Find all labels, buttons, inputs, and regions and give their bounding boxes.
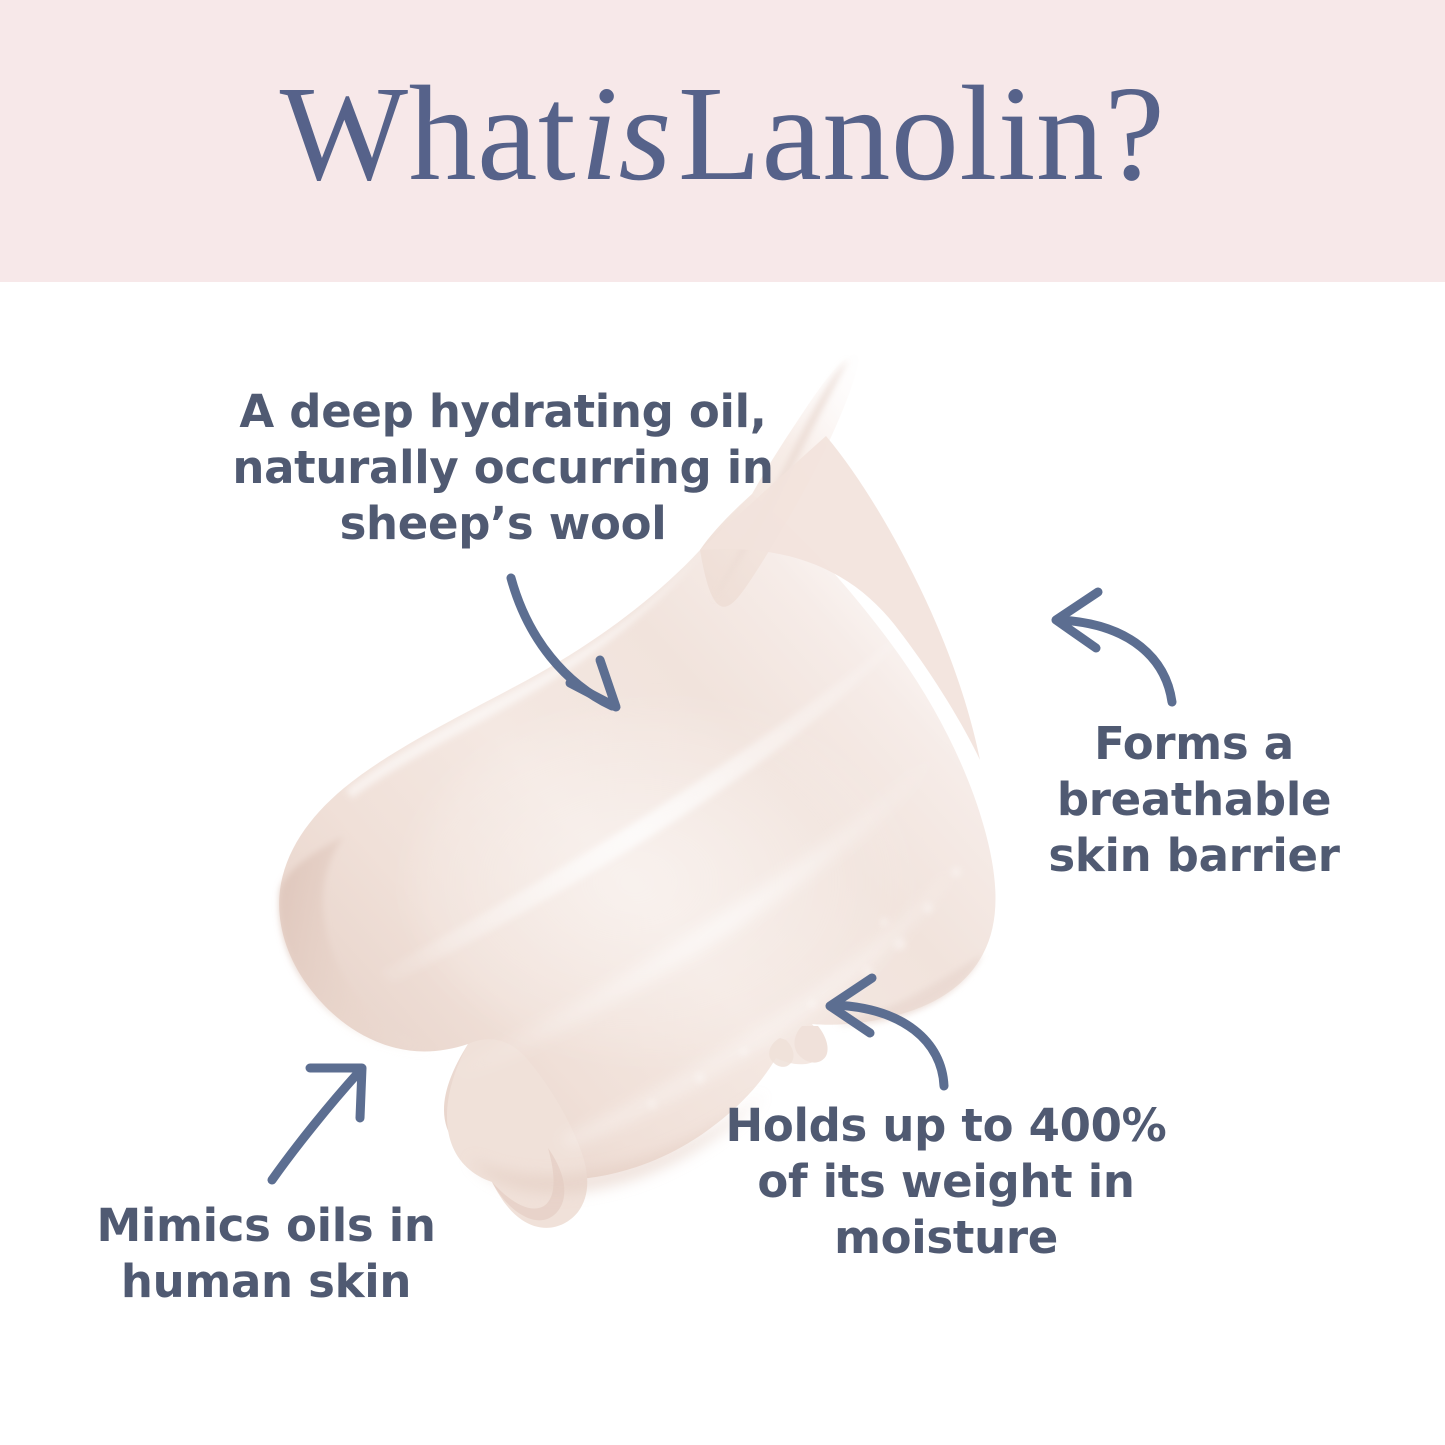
annotation-line: sheep’s wool: [178, 496, 828, 552]
annotation-line: Mimics oils in: [56, 1198, 476, 1254]
page-title-word-is: is: [576, 66, 678, 202]
annotation-line: of its weight in: [676, 1154, 1216, 1210]
annotation-line: naturally occurring in: [178, 440, 828, 496]
page-title-word-what: What: [280, 66, 577, 202]
annotation-breathable-barrier: Forms a breathable skin barrier: [1014, 716, 1374, 883]
annotation-line: skin barrier: [1014, 828, 1374, 884]
annotation-deep-hydrating-oil: A deep hydrating oil, naturally occurrin…: [178, 384, 828, 551]
cream-inner-glow: [410, 707, 910, 1057]
infographic-page: What is Lanolin?: [0, 0, 1445, 1445]
page-title-word-lanolin: Lanolin?: [678, 66, 1165, 202]
annotation-line: breathable: [1014, 772, 1374, 828]
page-title: What is Lanolin?: [0, 0, 1445, 282]
annotation-mimics-human-skin: Mimics oils in human skin: [56, 1198, 476, 1310]
annotation-line: Holds up to 400%: [676, 1098, 1216, 1154]
annotation-line: A deep hydrating oil,: [178, 384, 828, 440]
annotation-line: Forms a: [1014, 716, 1374, 772]
annotation-line: human skin: [56, 1254, 476, 1310]
annotation-holds-moisture: Holds up to 400% of its weight in moistu…: [676, 1098, 1216, 1265]
annotation-line: moisture: [676, 1210, 1216, 1266]
